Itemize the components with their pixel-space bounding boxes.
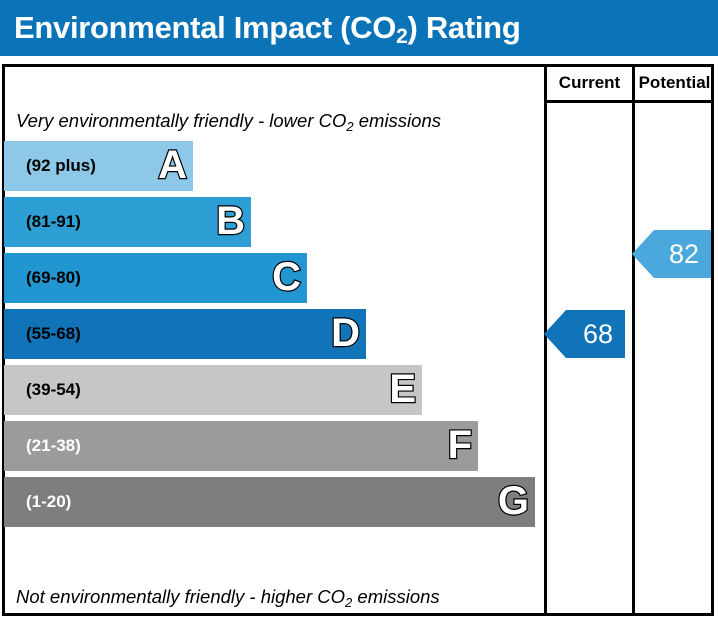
caption-top: Very environmentally friendly - lower CO… [16, 110, 441, 132]
rating-band-g: (1-20)G [4, 477, 535, 527]
epc-environmental-impact-chart: Environmental Impact (CO2) Rating Curren… [0, 0, 718, 619]
chart-title-bar: Environmental Impact (CO2) Rating [0, 0, 718, 56]
header-row-divider [544, 100, 714, 103]
band-range-label: (39-54) [26, 380, 81, 400]
rating-band-b: (81-91)B [4, 197, 251, 247]
band-range-label: (55-68) [26, 324, 81, 344]
band-letter-f: F [448, 425, 472, 465]
rating-band-c: (69-80)C [4, 253, 307, 303]
rating-band-e: (39-54)E [4, 365, 422, 415]
band-range-label: (1-20) [26, 492, 71, 512]
caption-bottom: Not environmentally friendly - higher CO… [16, 586, 440, 608]
rating-band-f: (21-38)F [4, 421, 478, 471]
current-rating-value: 68 [583, 319, 613, 350]
rating-band-d: (55-68)D [4, 309, 366, 359]
band-letter-d: D [331, 313, 360, 353]
band-letter-b: B [216, 201, 245, 241]
rating-band-a: (92 plus)A [4, 141, 193, 191]
column-divider-current [544, 67, 547, 613]
band-range-label: (69-80) [26, 268, 81, 288]
band-letter-c: C [272, 257, 301, 297]
band-letter-a: A [158, 145, 187, 185]
potential-rating-value: 82 [669, 239, 699, 270]
band-letter-e: E [389, 369, 416, 409]
caption-bottom-subscript: 2 [345, 595, 352, 610]
band-range-label: (21-38) [26, 436, 81, 456]
band-letter-g: G [498, 481, 529, 521]
title-subscript: 2 [396, 25, 407, 48]
column-header-current: Current [547, 73, 632, 93]
page-title: Environmental Impact (CO2) Rating [14, 7, 520, 53]
column-header-potential: Potential [635, 73, 714, 93]
band-range-label: (92 plus) [26, 156, 96, 176]
caption-top-subscript: 2 [346, 119, 353, 134]
column-divider-potential [632, 67, 635, 613]
band-range-label: (81-91) [26, 212, 81, 232]
